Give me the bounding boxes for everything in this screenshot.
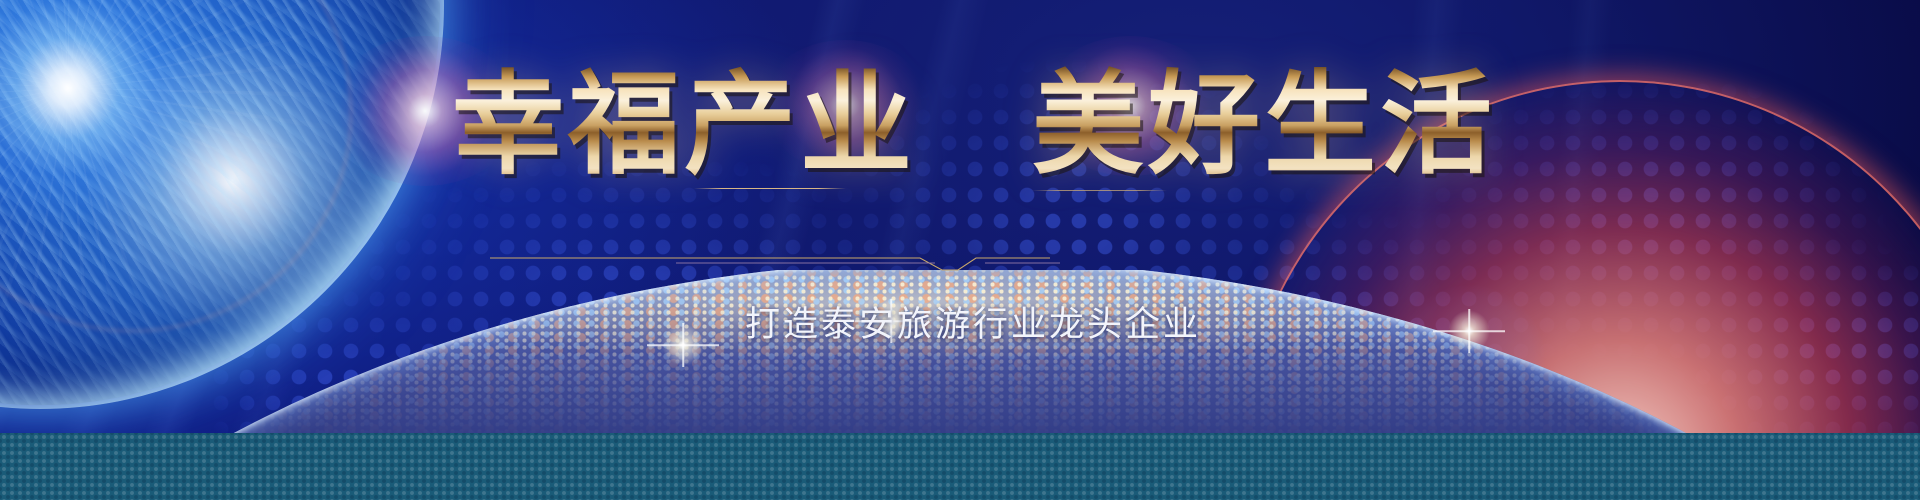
gold-divider (480, 250, 1060, 274)
title-underline-right (1032, 190, 1167, 191)
title-underline-left (694, 188, 846, 189)
banner-content: 幸福产业 美好生活 打造泰安旅游行业龙头企业 (0, 0, 1920, 500)
bottom-bar-texture (0, 433, 1920, 500)
banner-title: 幸福产业 美好生活 (0, 66, 1920, 185)
banner-subtitle: 打造泰安旅游行业龙头企业 (0, 296, 1920, 347)
hero-banner: 幸福产业 美好生活 打造泰安旅游行业龙头企业 (0, 0, 1920, 500)
bottom-teal-bar (0, 433, 1920, 500)
